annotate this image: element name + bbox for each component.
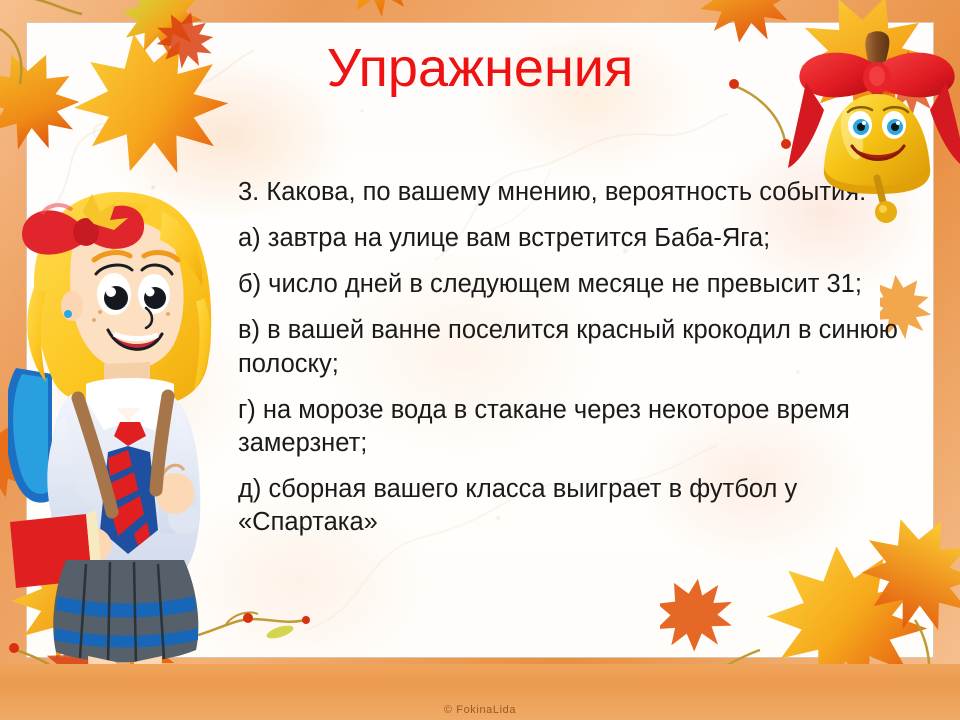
schoolgirl-illustration [8,178,240,706]
exercise-option-d: д) сборная вашего класса выиграет в футб… [238,473,914,539]
slide-canvas: Упражнения 3. Какова, по вашему мнению, … [0,0,960,720]
copyright-watermark: © FokinaLida [0,704,960,716]
school-bell-icon [786,28,960,228]
exercise-text-block: 3. Какова, по вашему мнению, вероятность… [238,176,914,552]
exercise-option-g: г) на морозе вода в стакане через некото… [238,394,914,460]
exercise-option-b: б) число дней в следующем месяце не прев… [238,268,914,301]
page-title: Упражнения [150,40,810,97]
exercise-option-v: в) в вашей ванне поселится красный кроко… [238,314,914,380]
